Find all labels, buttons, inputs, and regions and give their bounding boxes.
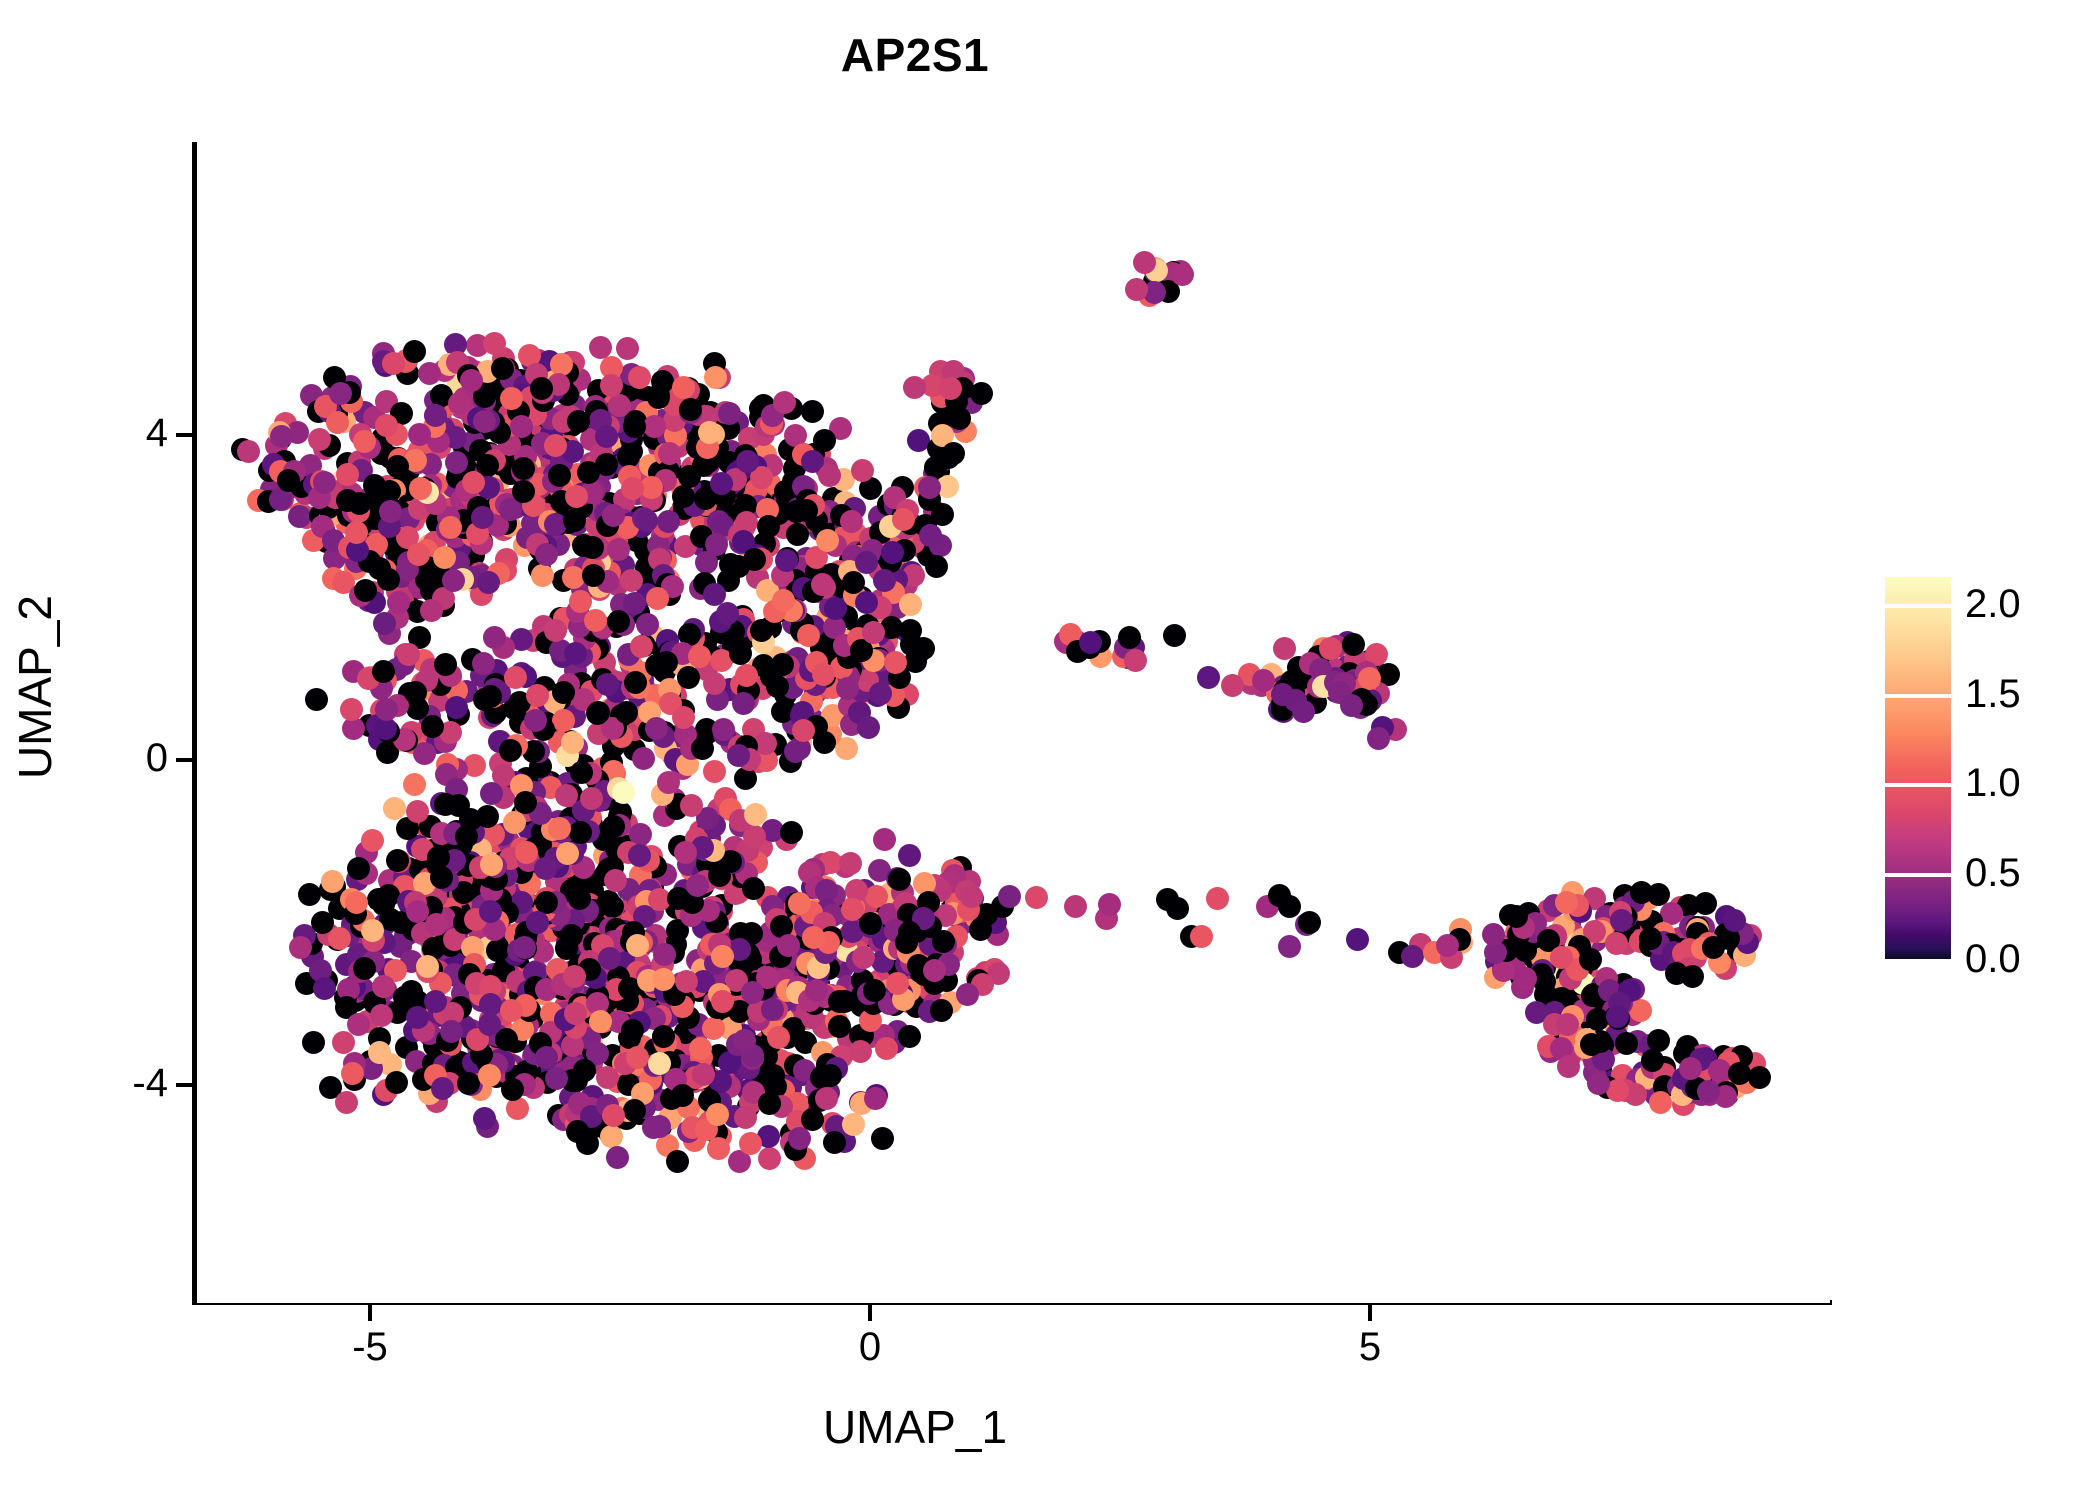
scatter-point [1098,893,1121,916]
scatter-point [788,1127,811,1150]
colorbar-tick-mark [1885,694,1951,698]
scatter-point [841,898,864,921]
scatter-point [626,934,649,957]
x-tick-label: -5 [270,1327,470,1367]
scatter-point [584,609,607,632]
scatter-point [1190,925,1213,948]
scatter-point [771,653,794,676]
colorbar-tick-mark [1885,783,1951,787]
scatter-point [1292,700,1315,723]
scatter-point [332,1031,355,1054]
scatter-point [1748,1066,1771,1089]
scatter-point [919,524,942,547]
scatter-point [477,571,500,594]
scatter-point [1505,905,1528,928]
colorbar-tick-label: 0.0 [1965,939,2021,979]
scatter-point [442,569,465,592]
scatter-point [361,829,384,852]
scatter-points-layer [197,142,1830,1303]
y-tick-mark [176,1083,192,1087]
scatter-point [1197,666,1220,689]
scatter-point [1694,892,1717,915]
scatter-point [563,965,586,988]
x-tick-mark [868,1305,872,1321]
scatter-point [855,591,878,614]
scatter-point [711,990,734,1013]
scatter-point [430,866,453,889]
scatter-point [863,979,886,1002]
scatter-point [939,377,962,400]
scatter-point [1171,263,1194,286]
scatter-point [1579,948,1602,971]
scatter-point [1606,1005,1629,1028]
scatter-point [873,828,896,851]
colorbar-tick-mark [1885,604,1951,608]
scatter-point [766,675,789,698]
scatter-point [772,589,795,612]
scatter-point [602,504,625,527]
y-axis-title: UMAP_2 [8,437,62,937]
colorbar-tick-label: 1.0 [1965,763,2021,803]
scatter-point [647,384,670,407]
scatter-point [526,911,549,934]
scatter-point [1605,932,1628,955]
scatter-point [373,612,396,635]
scatter-point [786,523,809,546]
scatter-point [348,492,371,515]
scatter-point [514,791,537,814]
scatter-point [1221,674,1244,697]
scatter-point [596,1066,619,1089]
scatter-point [645,717,668,740]
x-tick-label: 0 [770,1327,970,1367]
scatter-point [884,651,907,674]
scatter-point [457,1072,480,1095]
scatter-point [448,392,471,415]
scatter-point [899,593,922,616]
scatter-point [431,1077,454,1100]
scatter-point [671,1084,694,1107]
scatter-point [1723,909,1746,932]
scatter-point [729,642,752,665]
scatter-point [424,990,447,1013]
scatter-point [620,569,643,592]
scatter-point [698,421,721,444]
scatter-point [383,797,406,820]
scatter-point [1342,633,1365,656]
scatter-point [552,709,575,732]
scatter-point [513,936,536,959]
scatter-point [386,455,409,478]
scatter-point [1367,727,1390,750]
scatter-point [674,841,697,864]
scatter-point [473,410,496,433]
y-tick-mark [176,433,192,437]
scatter-point [1401,945,1424,968]
scatter-point [851,459,874,482]
scatter-point [353,957,376,980]
scatter-point [1025,886,1048,909]
scatter-point [530,377,553,400]
scatter-point [677,666,700,689]
scatter-point [600,374,623,397]
scatter-point [386,849,409,872]
scatter-point [434,653,457,676]
colorbar-tick-mark [1885,959,1951,963]
scatter-point [716,602,739,625]
scatter-point [598,947,621,970]
scatter-point [424,404,447,427]
scatter-point [409,477,432,500]
scatter-point [335,1091,358,1114]
scatter-point [393,986,416,1009]
scatter-point [741,981,764,1004]
scatter-point [653,943,676,966]
scatter-point [648,1052,671,1075]
scatter-point [462,471,485,494]
scatter-point [564,642,587,665]
scatter-point [512,457,535,480]
scatter-point [672,376,695,399]
scatter-point [1278,935,1301,958]
scatter-point [818,464,841,487]
scatter-point [898,1025,921,1048]
scatter-point [336,463,359,486]
scatter-point [956,983,979,1006]
scatter-point [805,979,828,1002]
scatter-point [780,821,803,844]
scatter-point [397,643,420,666]
scatter-point [842,1113,865,1136]
scatter-point [595,453,618,476]
scatter-point [534,857,557,880]
scatter-point [406,900,429,923]
scatter-point [823,1131,846,1154]
scatter-point [596,673,619,696]
scatter-point [305,688,328,711]
scatter-point [869,682,892,705]
scatter-point [875,1037,898,1060]
scatter-point [1641,1049,1664,1072]
scatter-point [425,913,448,936]
scatter-point [531,564,554,587]
scatter-point [784,740,807,763]
scatter-point [862,621,885,644]
scatter-point [1728,1062,1751,1085]
scatter-point [544,434,567,457]
scatter-point [707,1137,730,1160]
plot-panel [197,142,1830,1303]
scatter-point [544,619,567,642]
scatter-point [570,761,593,784]
scatter-point [418,362,441,385]
scatter-point [1482,923,1505,946]
scatter-point [836,677,859,700]
scatter-point [479,685,502,708]
scatter-point [932,930,955,953]
scatter-point [440,1020,463,1043]
scatter-point [658,442,681,465]
scatter-point [408,423,431,446]
scatter-point [795,499,818,522]
scatter-point [403,340,426,363]
scatter-point [864,1087,887,1110]
scatter-point [636,613,659,636]
scatter-point [925,555,948,578]
scatter-point [704,366,727,389]
scatter-point [1697,1080,1720,1103]
scatter-point [998,885,1021,908]
scatter-point [313,977,336,1000]
scatter-point [1124,649,1147,672]
scatter-point [345,521,368,544]
scatter-point [792,719,815,742]
scatter-point [589,1010,612,1033]
scatter-point [628,366,651,389]
scatter-point [750,619,773,642]
y-tick-mark [176,758,192,762]
scatter-point [735,664,758,687]
scatter-point [607,538,630,561]
scatter-point [1064,895,1087,918]
scatter-point [600,1125,623,1148]
scatter-point [1346,928,1369,951]
scatter-point [797,624,820,647]
scatter-point [420,599,443,622]
scatter-point [871,1127,894,1150]
scatter-point [813,429,836,452]
scatter-point [526,684,549,707]
scatter-point [1358,667,1381,690]
page-title: AP2S1 [0,28,1830,82]
scatter-point [565,485,588,508]
scatter-point [672,706,695,729]
scatter-point [500,999,523,1022]
scatter-point [903,376,926,399]
scatter-point [556,842,579,865]
x-axis-title: UMAP_1 [0,1400,1830,1454]
scatter-point [758,1092,781,1115]
scatter-point [666,1150,689,1173]
scatter-point [691,737,714,760]
scatter-point [736,450,759,473]
scatter-point [608,394,631,417]
scatter-point [1166,897,1189,920]
scatter-point [743,548,766,571]
scatter-point [503,811,526,834]
scatter-point [361,919,384,942]
scatter-point [1125,278,1148,301]
scatter-point [675,970,698,993]
scatter-point [646,587,669,610]
scatter-point [711,945,734,968]
scatter-point [385,1071,408,1094]
scatter-point [612,781,635,804]
colorbar-tick-label: 2.0 [1965,584,2021,624]
scatter-point [407,543,430,566]
scatter-point [657,510,680,533]
scatter-point [1163,624,1186,647]
scatter-point [563,509,586,532]
scatter-point [480,782,503,805]
scatter-point [849,1040,872,1063]
scatter-point [552,681,575,704]
scatter-point [744,803,767,826]
scatter-point [535,1046,558,1069]
scatter-point [370,1004,393,1027]
scatter-point [439,516,462,539]
scatter-point [706,1103,729,1126]
scatter-point [491,357,514,380]
scatter-point [758,1147,781,1170]
scatter-point [892,508,915,531]
scatter-point [623,1099,646,1122]
scatter-point [433,546,456,569]
scatter-point [930,999,953,1022]
scatter-point [607,610,630,633]
scatter-point [1206,887,1229,910]
scatter-point [801,1108,824,1131]
scatter-point [816,529,839,552]
scatter-point [445,696,468,719]
scatter-point [773,391,796,414]
scatter-point [616,337,639,360]
scatter-point [819,1064,842,1087]
scatter-point [621,1019,644,1042]
scatter-point [434,793,457,816]
scatter-point [499,739,522,762]
scatter-point [406,800,429,823]
scatter-point [692,1063,715,1086]
scatter-point [632,747,655,770]
scatter-point [898,844,921,867]
umap-feature-plot: AP2S1 40-4 -505 UMAP_1 UMAP_2 2.01.51.00… [0,0,2100,1500]
x-tick-mark [368,1305,372,1321]
scatter-point [969,918,992,941]
scatter-point [898,921,921,944]
scatter-point [606,1146,629,1169]
scatter-point [657,771,680,794]
scatter-point [942,442,965,465]
scatter-point [368,1041,391,1064]
scatter-point [1436,934,1459,957]
scatter-point [801,400,824,423]
scatter-point [535,543,558,566]
scatter-point [479,900,502,923]
scatter-point [545,1067,568,1090]
x-tick-mark [1368,1305,1372,1321]
scatter-point [326,411,349,434]
scatter-point [873,569,896,592]
y-tick-label: -4 [0,1063,168,1103]
scatter-point [568,887,591,910]
scatter-point [504,666,527,689]
scatter-point [1298,911,1321,934]
scatter-point [288,505,311,528]
scatter-point [703,760,726,783]
scatter-point [710,472,733,495]
scatter-point [548,817,571,840]
scatter-point [855,551,878,574]
scatter-point [576,1132,599,1155]
scatter-point [589,336,612,359]
scatter-point [703,672,726,695]
scatter-point [473,1107,496,1130]
scatter-point [328,927,351,950]
scatter-point [655,651,678,674]
x-tick-label: 5 [1270,1327,1470,1367]
scatter-point [757,515,780,538]
colorbar-gradient: 2.01.51.00.50.0 [1885,577,1951,963]
scatter-point [762,1064,785,1087]
scatter-point [403,773,426,796]
scatter-point [960,885,983,908]
scatter-point [1681,965,1704,988]
scatter-point [510,415,533,438]
colorbar-tick-label: 0.5 [1965,853,2021,893]
scatter-point [604,869,627,892]
scatter-point [621,477,644,500]
scatter-point [626,1046,649,1069]
scatter-point [569,821,592,844]
scatter-point [1702,936,1725,959]
scatter-point [308,428,331,451]
colorbar-legend: 2.01.51.00.50.0 [1885,577,1951,963]
scatter-point [642,1116,665,1139]
scatter-point [298,883,321,906]
scatter-point [732,692,755,715]
scatter-point [718,402,741,425]
scatter-point [689,1037,712,1060]
scatter-point [573,1059,596,1082]
scatter-point [761,998,784,1021]
scatter-point [483,332,506,355]
scatter-point [1133,251,1156,274]
scatter-point [857,716,880,739]
scatter-point [1557,1055,1580,1078]
scatter-point [1271,683,1294,706]
scatter-point [881,541,904,564]
scatter-point [321,870,344,893]
scatter-point [1079,631,1102,654]
scatter-point [623,592,646,615]
scatter-point [375,698,398,721]
scatter-point [788,892,811,915]
scatter-point [1118,626,1141,649]
scatter-point [742,877,765,900]
scatter-point [302,1031,325,1054]
scatter-point [270,425,293,448]
scatter-point [679,398,702,421]
scatter-point [824,597,847,620]
colorbar-tick-label: 1.5 [1965,674,2021,714]
scatter-point [1278,895,1301,918]
scatter-point [237,440,260,463]
scatter-point [524,709,547,732]
scatter-point [815,1087,838,1110]
scatter-point [421,715,444,738]
scatter-point [595,425,618,448]
scatter-point [427,846,450,869]
scatter-point [839,852,862,875]
scatter-point [734,1106,757,1129]
colorbar-tick-mark [1885,873,1951,877]
scatter-point [602,815,625,838]
